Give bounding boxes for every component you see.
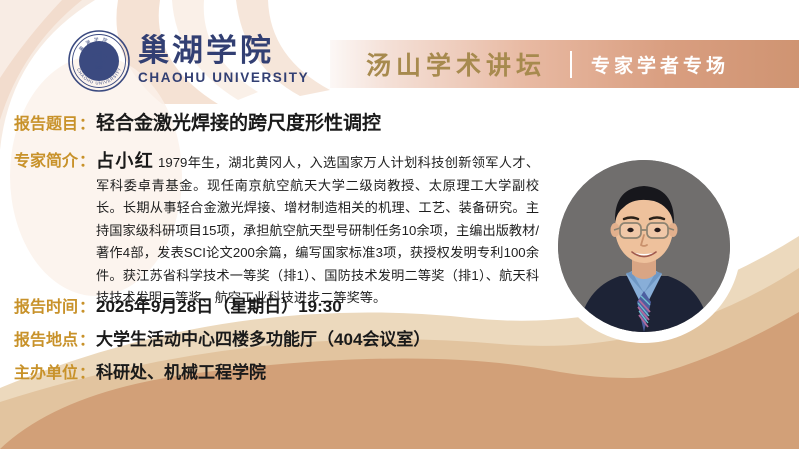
report-place-row: 报告地点 ： 大学生活动中心四楼多功能厅（404会议室）	[14, 325, 430, 350]
report-time-value: 2025年9月28日（星期日）19:30	[96, 292, 342, 317]
report-host-value: 科研处、机械工程学院	[96, 358, 266, 383]
report-place-colon: ：	[78, 326, 96, 350]
lecture-poster: 1977 巢 湖 学 院 CHAOHU UNIVERSITY 巢湖学院 CHAO…	[0, 0, 799, 449]
report-title-value: 轻合金激光焊接的跨尺度形性调控	[96, 108, 381, 135]
report-title-colon: ：	[78, 110, 96, 134]
report-time-label: 报告时间	[14, 293, 78, 317]
report-host-colon: ：	[78, 359, 96, 383]
report-title-row: 报告题目 ： 轻合金激光焊接的跨尺度形性调控	[14, 108, 381, 135]
speaker-bio-label: 专家简介	[14, 150, 78, 173]
report-time-row: 报告时间 ： 2025年9月28日（星期日）19:30	[14, 292, 342, 317]
report-host-row: 主办单位 ： 科研处、机械工程学院	[14, 358, 266, 383]
speaker-bio-text: 占小红 1979年生，湖北黄冈人，入选国家万人计划科技创新领军人才、军科委卓青基…	[96, 150, 539, 310]
speaker-portrait	[558, 160, 730, 332]
report-time-colon: ：	[78, 293, 96, 317]
report-place-label: 报告地点	[14, 326, 78, 350]
report-host-label: 主办单位	[14, 359, 78, 383]
speaker-bio-detail: 1979年生，湖北黄冈人，入选国家万人计划科技创新领军人才、军科委卓青基金。现任…	[96, 155, 539, 305]
speaker-name: 占小红	[96, 151, 154, 171]
speaker-bio-row: 专家简介 ： 占小红 1979年生，湖北黄冈人，入选国家万人计划科技创新领军人才…	[14, 150, 554, 310]
speaker-bio-colon: ：	[78, 150, 96, 173]
report-title-label: 报告题目	[14, 110, 78, 134]
report-place-value: 大学生活动中心四楼多功能厅（404会议室）	[96, 325, 430, 350]
